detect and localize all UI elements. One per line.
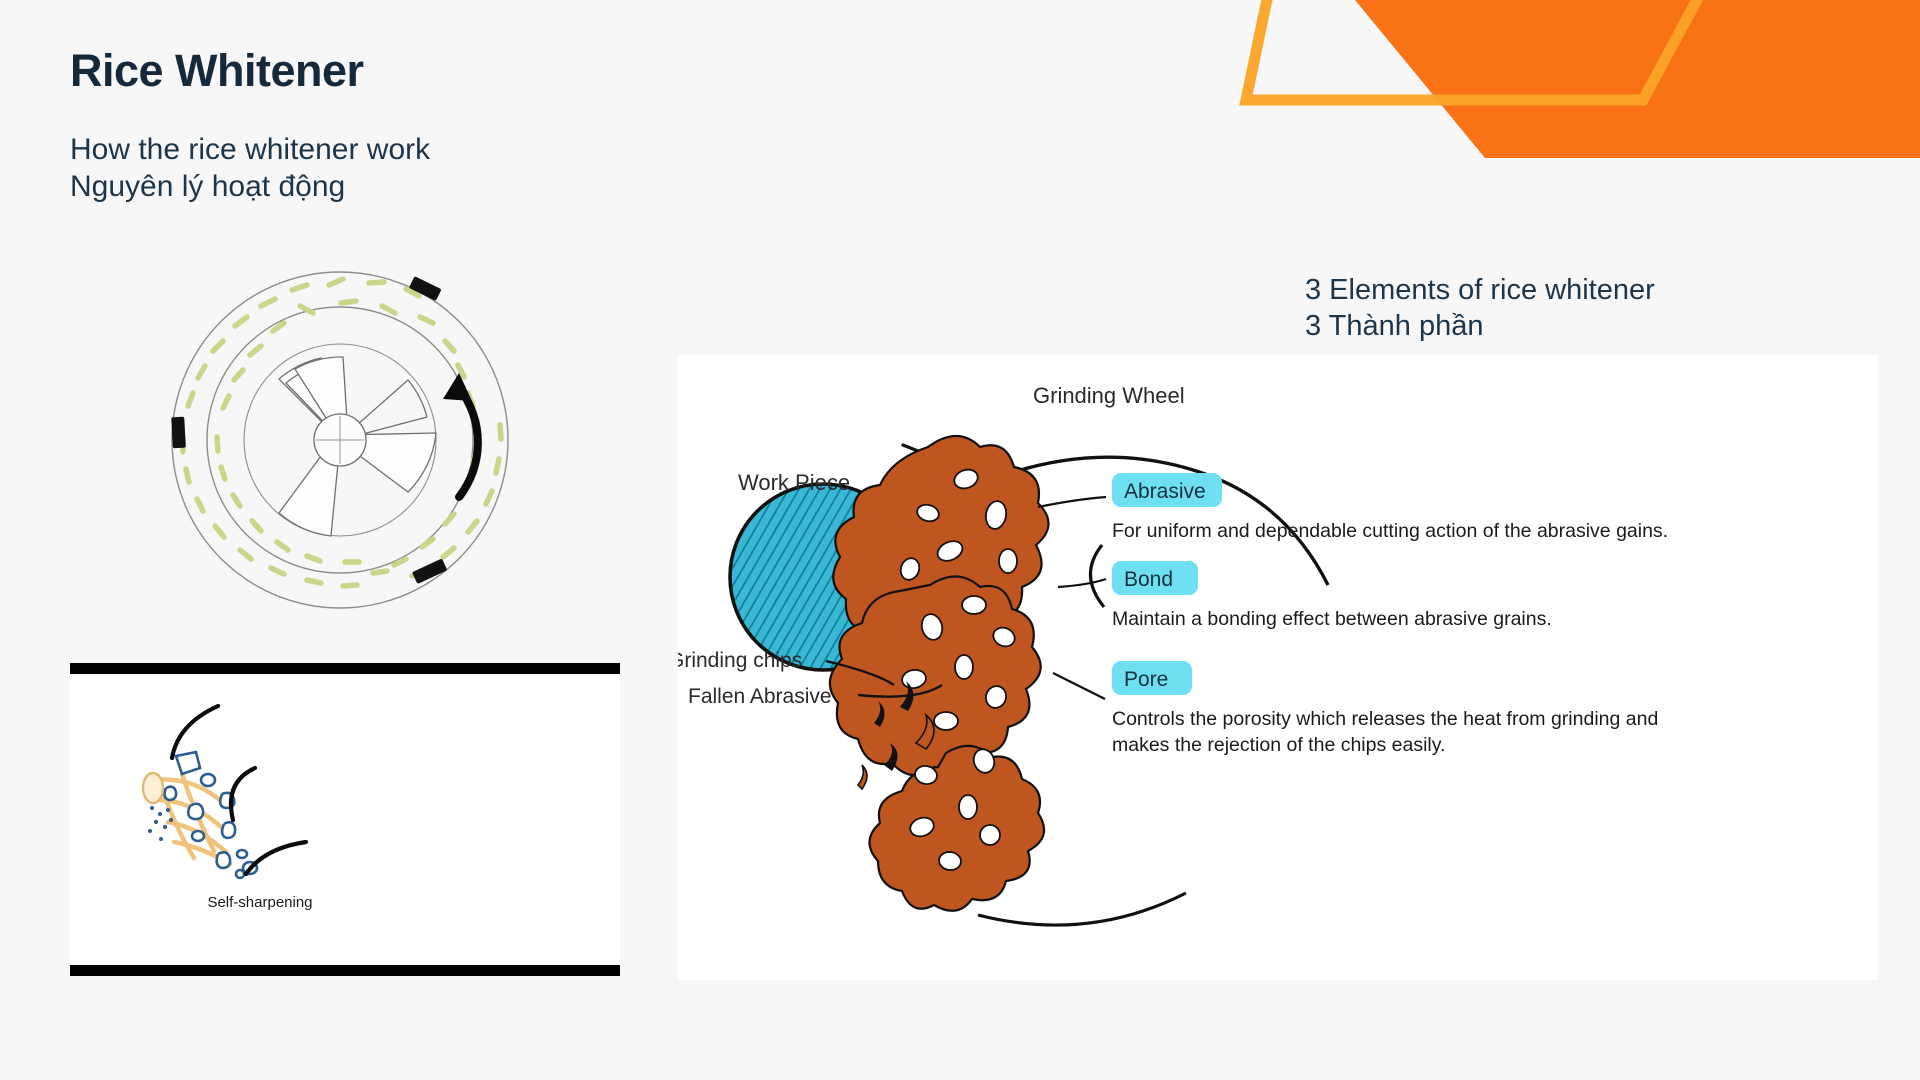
grinding-chips-label: Grinding chips [678, 649, 802, 672]
bond-pill-label: Bond [1124, 568, 1173, 591]
solid-orange-shape [1355, 0, 1920, 158]
self-sharpening-diagram [138, 696, 348, 886]
abrasive-grain-group [165, 752, 257, 878]
self-sharpening-caption: Self-sharpening [70, 894, 450, 911]
element-abrasive: Abrasive For uniform and dependable cutt… [1112, 473, 1668, 542]
abrasive-grain-mass [830, 436, 1049, 911]
grinding-wheel-label: Grinding Wheel [1033, 383, 1185, 408]
resistance-bar-group [171, 276, 447, 584]
page-subtitle: How the rice whitener work Nguyên lý hoạ… [70, 132, 430, 206]
work-piece-label: Work Piece [738, 470, 850, 495]
fallen-abrasive-label: Fallen Abrasive [688, 685, 832, 708]
bond-description: Maintain a bonding effect between abrasi… [1112, 608, 1552, 630]
rice-grain-ellipse [143, 773, 163, 803]
grinding-wheel-illustration: Grinding Wheel Work Piece [678, 355, 1878, 980]
pore-bracket-arc [978, 893, 1186, 925]
pore-description-line2: makes the rejection of the chips easily. [1112, 734, 1445, 756]
self-sharpening-card: Self-sharpening [70, 663, 620, 976]
rotor-hub [314, 414, 366, 466]
rice-whitening-chamber-diagram [155, 265, 525, 615]
pore-pill-label: Pore [1124, 668, 1168, 691]
abrasive-pill-label: Abrasive [1124, 480, 1206, 503]
pore-description-line1: Controls the porosity which releases the… [1112, 708, 1658, 730]
abrasive-description: For uniform and dependable cutting actio… [1112, 520, 1668, 542]
element-pore: Pore Controls the porosity which release… [1112, 661, 1658, 756]
element-bond: Bond Maintain a bonding effect between a… [1112, 561, 1552, 630]
resistance-bar-left [171, 417, 186, 449]
outline-orange-shape [1246, 0, 1705, 100]
section-heading: 3 Elements of rice whitener 3 Thành phần [1305, 272, 1655, 345]
grinding-wheel-panel: Grinding Wheel Work Piece [678, 355, 1878, 980]
resistance-bar-top [409, 276, 442, 301]
page-title: Rice Whitener [70, 48, 364, 93]
bond-bracket-arc [1090, 545, 1104, 607]
resistance-bar-bottom [412, 558, 447, 584]
orange-parallelogram-decoration [1200, 0, 1920, 210]
